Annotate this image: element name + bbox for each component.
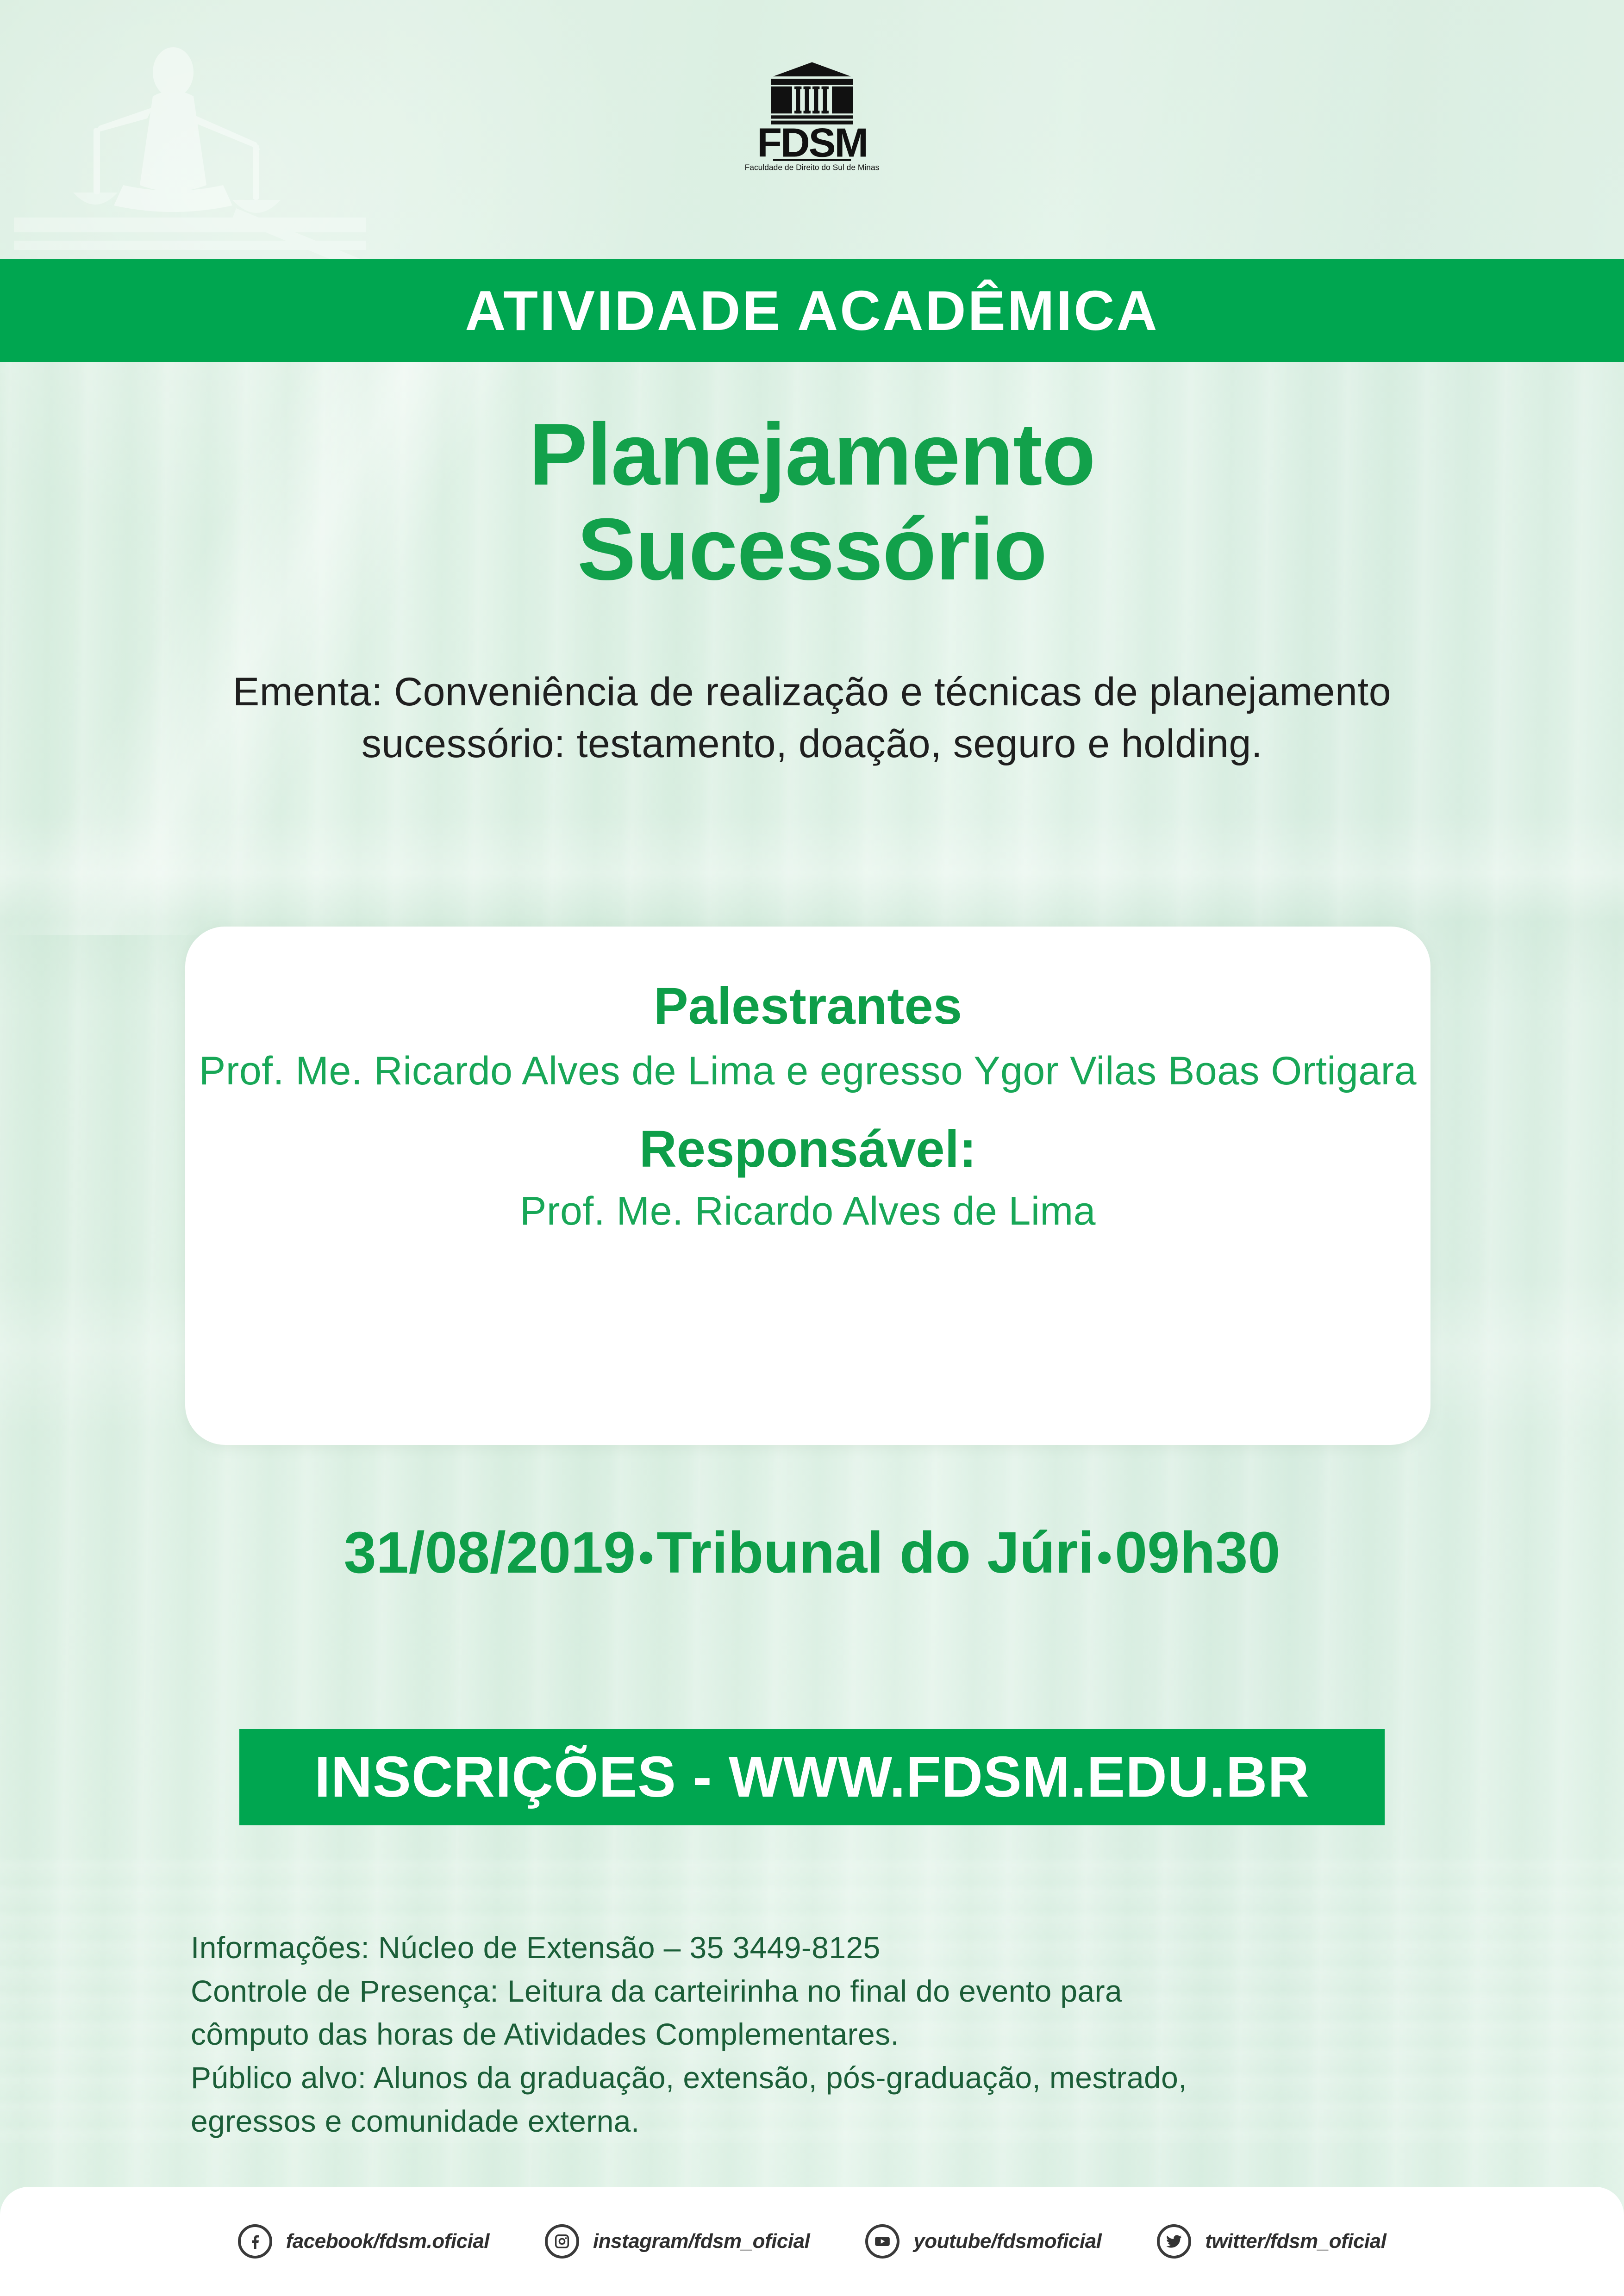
twitter-handle: twitter/fdsm_oficial — [1205, 2230, 1386, 2253]
svg-text:Faculdade de Direito do Sul de: Faculdade de Direito do Sul de Minas — [745, 162, 880, 172]
social-link-twitter[interactable]: twitter/fdsm_oficial — [1157, 2224, 1386, 2259]
activity-banner-title: ATIVIDADE ACADÊMICA — [465, 282, 1159, 339]
instagram-handle: instagram/fdsm_oficial — [593, 2230, 810, 2253]
info-block: Informações: Núcleo de Extensão – 35 344… — [191, 1926, 1476, 2143]
registration-label: INSCRIÇÕES - WWW.FDSM.EDU.BR — [314, 1748, 1310, 1806]
speakers-card: Palestrantes Prof. Me. Ricardo Alves de … — [185, 927, 1430, 1445]
speakers-heading: Palestrantes — [654, 977, 962, 1034]
facebook-icon — [238, 2224, 272, 2259]
info-line-3: cômputo das horas de Atividades Compleme… — [191, 2013, 1476, 2056]
event-details: 31/08/2019•Tribunal do Júri•09h30 — [0, 1521, 1624, 1585]
poster-root: FDSM Faculdade de Direito do Sul de Mina… — [0, 0, 1624, 2296]
registration-banner[interactable]: INSCRIÇÕES - WWW.FDSM.EDU.BR — [239, 1729, 1385, 1825]
youtube-icon — [865, 2224, 899, 2259]
responsible-heading: Responsável: — [639, 1120, 976, 1177]
info-line-2: Controle de Presença: Leitura da carteir… — [191, 1970, 1476, 2013]
speakers-names: Prof. Me. Ricardo Alves de Lima e egress… — [199, 1046, 1417, 1096]
event-venue: Tribunal do Júri — [656, 1520, 1094, 1585]
social-link-youtube[interactable]: youtube/fdsmoficial — [865, 2224, 1101, 2259]
facebook-handle: facebook/fdsm.oficial — [286, 2230, 489, 2253]
twitter-icon — [1157, 2224, 1191, 2259]
social-link-instagram[interactable]: instagram/fdsm_oficial — [545, 2224, 810, 2259]
page-title-line2: Sucessório — [0, 502, 1624, 597]
info-line-5: egressos e comunidade externa. — [191, 2100, 1476, 2143]
separator-dot-1: • — [636, 1533, 656, 1581]
responsible-name: Prof. Me. Ricardo Alves de Lima — [520, 1187, 1096, 1237]
social-link-facebook[interactable]: facebook/fdsm.oficial — [238, 2224, 489, 2259]
separator-dot-2: • — [1094, 1533, 1115, 1581]
instagram-icon — [545, 2224, 579, 2259]
page-title-line1: Planejamento — [0, 407, 1624, 502]
social-footer: facebook/fdsm.oficial instagram/fdsm_ofi… — [0, 2187, 1624, 2296]
page-title: Planejamento Sucessório — [0, 407, 1624, 597]
youtube-handle: youtube/fdsmoficial — [913, 2230, 1101, 2253]
fdsm-logo: FDSM Faculdade de Direito do Sul de Mina… — [0, 56, 1624, 174]
event-time: 09h30 — [1115, 1520, 1280, 1585]
info-line-1: Informações: Núcleo de Extensão – 35 344… — [191, 1926, 1476, 1970]
info-line-4: Público alvo: Alunos da graduação, exten… — [191, 2056, 1476, 2100]
event-date: 31/08/2019 — [344, 1520, 636, 1585]
ementa-text: Ementa: Conveniência de realização e téc… — [194, 666, 1430, 770]
activity-banner: ATIVIDADE ACADÊMICA — [0, 259, 1624, 362]
svg-text:FDSM: FDSM — [757, 120, 867, 166]
background-light-streak — [0, 287, 648, 935]
